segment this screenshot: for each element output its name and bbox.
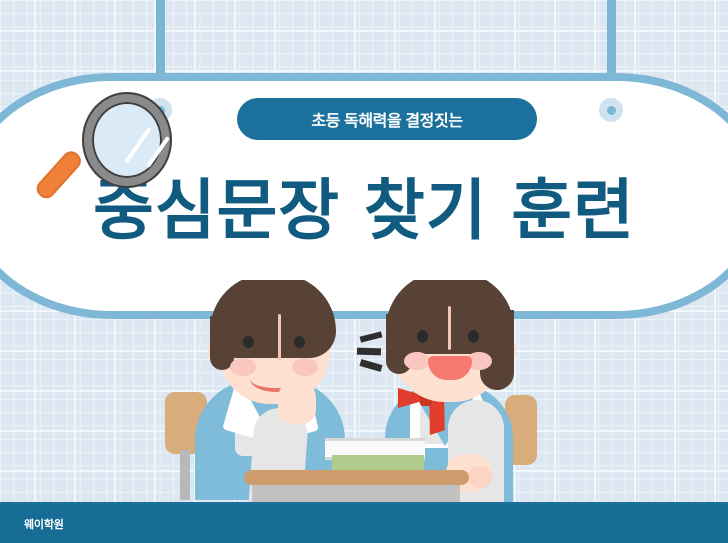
chair-post-left: [180, 450, 190, 500]
footer-bar: 웨이학원: [0, 505, 728, 543]
magnifier-shine-2: [146, 136, 170, 168]
boy-hand: [278, 380, 316, 424]
boy-nose: [278, 314, 281, 360]
speech-line-2: [357, 348, 381, 356]
girl-nose: [448, 306, 451, 350]
desk-top: [244, 470, 469, 485]
speech-line-3: [359, 359, 382, 372]
magnifier-ring: [84, 94, 170, 186]
subtitle-badge: 초등 독해력을 결정짓는: [237, 98, 537, 140]
slide-canvas: 초등 독해력을 결정짓는 중심문장 찾기 훈련: [0, 0, 728, 543]
girl-eye-right: [468, 330, 479, 343]
boy-hair: [210, 280, 336, 358]
subtitle-badge-label: 초등 독해력을 결정짓는: [311, 107, 462, 131]
girl-cheek-left: [404, 352, 430, 370]
magnifying-glass-icon: [62, 92, 174, 210]
magnifier-shine-1: [124, 127, 151, 164]
girl-thumb: [468, 466, 492, 488]
speech-line-1: [360, 331, 383, 342]
pin-dot-right: [607, 106, 616, 115]
illustration-scene: [0, 280, 728, 505]
boy-eye-left: [243, 336, 254, 348]
footer-brand-label: 웨이학원: [24, 516, 64, 532]
girl-eye-left: [417, 330, 428, 343]
boy-eye-right: [294, 336, 305, 348]
